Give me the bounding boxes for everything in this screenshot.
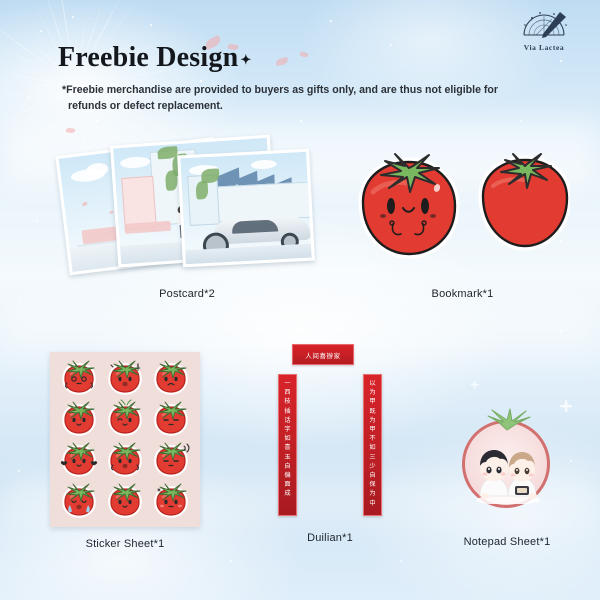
tomato-smiling-icon: [59, 399, 99, 439]
duilian-character: 不: [369, 435, 375, 443]
tomato-crying-icon: [59, 481, 99, 521]
caption-postcard: Postcard*2: [62, 288, 312, 300]
duilian-character: 保: [369, 481, 375, 489]
duilian-character: 插: [284, 408, 290, 416]
duilian-character: 成: [284, 490, 290, 498]
sticker-grid: [56, 358, 194, 521]
duilian-character: 自: [284, 463, 290, 471]
duilian-character: 喜: [284, 444, 290, 452]
tomato-cheerful-icon: [105, 440, 145, 480]
duilian-character: 偏: [284, 472, 290, 480]
duilian-character: 少: [369, 463, 375, 471]
caption-sticker-sheet: Sticker Sheet*1: [50, 538, 200, 550]
sticker-tomato-cheerful: [102, 440, 148, 481]
duilian-character: 面: [284, 481, 290, 489]
disclaimer-line-1: *Freebie merchandise are provided to buy…: [62, 84, 498, 96]
duilian-banner-text: 人间喜辦家: [305, 350, 341, 360]
freebie-design-page: Via Lactea Freebie Design✦ *Freebie merc…: [0, 0, 600, 600]
duilian-character: 玉: [284, 454, 290, 462]
sticker-sheet-paper: [50, 352, 200, 527]
duilian-character: 话: [284, 417, 290, 425]
sticker-tomato-sleepy: [148, 399, 194, 440]
tomato-surprised-icon: [105, 358, 145, 398]
duilian-character: 三: [369, 454, 375, 462]
disclaimer-line-2: refunds or defect replacement.: [62, 98, 517, 114]
duilian-left-scroll: 一西枝插话字如喜玉自偏面成: [278, 374, 297, 516]
tomato-bookmark-pair-icon: [355, 150, 570, 275]
sticker-tomato-shy: [148, 480, 194, 521]
duilian-horizontal-banner: 人间喜辦家: [292, 344, 354, 365]
caption-bookmark: Bookmark*1: [355, 288, 570, 300]
tomato-sleepy-icon: [151, 399, 191, 439]
tomato-winking-icon: [105, 399, 145, 439]
brand-logo: Via Lactea: [502, 8, 586, 58]
tomato-shy-icon: [151, 481, 191, 521]
page-title-text: Freebie Design: [58, 42, 238, 73]
sticker-tomato-pouting: [148, 358, 194, 399]
title-sparkle-icon: ✦: [240, 52, 251, 67]
duilian-character: 字: [284, 426, 290, 434]
duilian-character: 为: [369, 417, 375, 425]
duilian-character: 西: [284, 389, 290, 397]
duilian-character: 甲: [369, 398, 375, 406]
duilian-character: 以: [369, 380, 375, 388]
tomato-bouncing-icon: [151, 440, 191, 480]
logo-wordmark: Via Lactea: [502, 43, 586, 52]
tomato-hearts-icon: [59, 440, 99, 480]
duilian-character: 如: [369, 444, 375, 452]
caption-duilian: Duilian*1: [278, 532, 382, 544]
sticker-tomato-hearts: [56, 440, 102, 481]
postcard-card: [177, 149, 315, 268]
postcard-artwork: [180, 152, 311, 264]
sticker-tomato-crying: [56, 480, 102, 521]
sticker-tomato-winking: [102, 399, 148, 440]
sticker-tomato-surprised: [102, 358, 148, 399]
sticker-tomato-happy: [102, 480, 148, 521]
duilian-character: 一: [284, 380, 290, 388]
caption-notepad-sheet: Notepad Sheet*1: [452, 536, 562, 548]
item-duilian: 人间喜辦家 一西枝插话字如喜玉自偏面成 以为甲既为甲不如三少自保为中 Duili…: [278, 344, 382, 529]
item-postcard: Postcard*2: [62, 138, 312, 283]
duilian-character: 中: [369, 500, 375, 508]
duilian-character: 既: [369, 408, 375, 416]
duilian-character: 甲: [369, 426, 375, 434]
disclaimer-text: *Freebie merchandise are provided to buy…: [62, 82, 517, 114]
celestial-sextant-icon: [516, 8, 572, 42]
duilian-right-scroll: 以为甲既为甲不如三少自保为中: [363, 374, 382, 516]
tomato-dizzy-icon: [59, 358, 99, 398]
sticker-tomato-dizzy: [56, 358, 102, 399]
duilian-character: 为: [369, 490, 375, 498]
item-bookmark: Bookmark*1: [355, 150, 570, 285]
sticker-tomato-smiling: [56, 399, 102, 440]
duilian-character: 如: [284, 435, 290, 443]
notepad-leaf-icon: [482, 408, 532, 432]
sticker-tomato-bouncing: [148, 440, 194, 481]
item-notepad-sheet: Notepad Sheet*1: [452, 408, 562, 528]
tomato-happy-icon: [105, 481, 145, 521]
chibi-couple-illustration: [470, 442, 546, 504]
item-sticker-sheet: Sticker Sheet*1: [50, 352, 200, 527]
duilian-character: 枝: [284, 398, 290, 406]
tomato-pouting-icon: [151, 358, 191, 398]
page-title: Freebie Design✦: [58, 42, 251, 74]
duilian-character: 为: [369, 389, 375, 397]
duilian-character: 自: [369, 472, 375, 480]
